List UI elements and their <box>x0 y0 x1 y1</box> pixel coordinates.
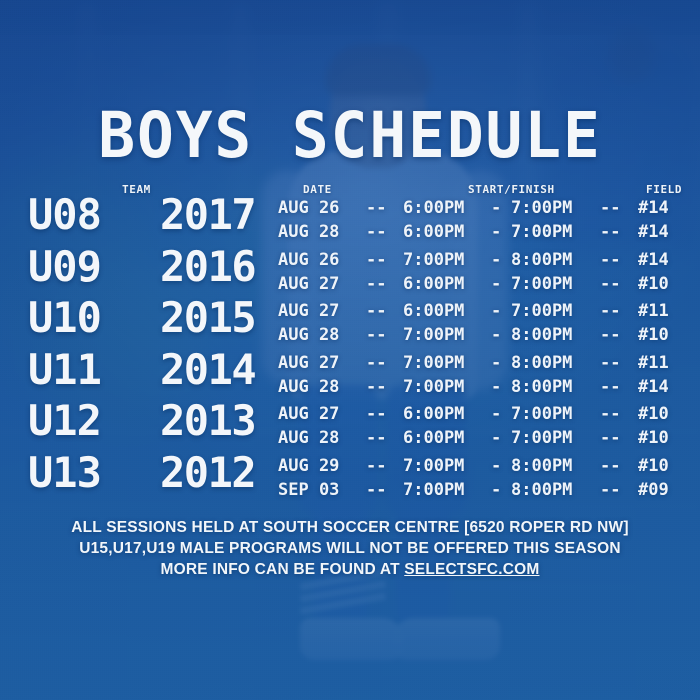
team-label: U13 <box>28 452 101 494</box>
session-entry: SEP 03 -- 7:00PM - 8:00PM -- #09 <box>278 478 698 502</box>
separator-dash: -- <box>600 478 620 502</box>
time-range-dash: - <box>491 248 501 272</box>
separator-dash: -- <box>600 272 620 296</box>
team-label: U11 <box>28 349 101 391</box>
time-range-dash: - <box>491 299 501 323</box>
session-date: SEP 03 <box>278 478 339 502</box>
session-finish: 8:00PM <box>511 248 572 272</box>
birth-year-label: 2016 <box>160 246 255 288</box>
session-start: 6:00PM <box>403 402 464 426</box>
team-label: U09 <box>28 246 101 288</box>
session-field: #11 <box>638 351 669 375</box>
session-finish: 7:00PM <box>511 220 572 244</box>
poster-content: BOYS SCHEDULE TEAM DATE START/FINISH FIE… <box>0 0 700 700</box>
time-range-dash: - <box>491 454 501 478</box>
birth-year-label: 2014 <box>160 349 255 391</box>
session-finish: 7:00PM <box>511 426 572 450</box>
session-field: #10 <box>638 426 669 450</box>
birth-year-label: 2017 <box>160 194 255 236</box>
session-date: AUG 28 <box>278 426 339 450</box>
separator-dash: -- <box>600 426 620 450</box>
footer-line-more-info: MORE INFO CAN BE FOUND AT SELECTSFC.COM <box>0 559 700 580</box>
session-date: AUG 27 <box>278 272 339 296</box>
session-entry: AUG 28 -- 7:00PM - 8:00PM -- #10 <box>278 323 698 347</box>
separator-dash: -- <box>366 351 386 375</box>
separator-dash: -- <box>600 375 620 399</box>
boys-schedule-poster: BOYS SCHEDULE TEAM DATE START/FINISH FIE… <box>0 0 700 700</box>
session-date: AUG 26 <box>278 196 339 220</box>
separator-dash: -- <box>366 375 386 399</box>
birth-year-label: 2015 <box>160 297 255 339</box>
column-header-start-finish: START/FINISH <box>468 183 555 196</box>
session-finish: 8:00PM <box>511 375 572 399</box>
separator-dash: -- <box>600 196 620 220</box>
birth-year-label: 2012 <box>160 452 255 494</box>
session-field: #14 <box>638 220 669 244</box>
session-finish: 7:00PM <box>511 196 572 220</box>
session-list: AUG 29 -- 7:00PM - 8:00PM -- #10 SEP 03 … <box>278 454 698 502</box>
session-start: 7:00PM <box>403 478 464 502</box>
separator-dash: -- <box>366 272 386 296</box>
separator-dash: -- <box>366 426 386 450</box>
session-field: #10 <box>638 323 669 347</box>
session-start: 7:00PM <box>403 454 464 478</box>
footer-line-programs: U15,U17,U19 MALE PROGRAMS WILL NOT BE OF… <box>0 538 700 559</box>
time-range-dash: - <box>491 351 501 375</box>
separator-dash: -- <box>600 248 620 272</box>
session-finish: 7:00PM <box>511 299 572 323</box>
column-header-team: TEAM <box>122 183 151 196</box>
separator-dash: -- <box>366 299 386 323</box>
session-field: #14 <box>638 375 669 399</box>
session-start: 7:00PM <box>403 375 464 399</box>
column-header-date: DATE <box>303 183 332 196</box>
session-field: #14 <box>638 248 669 272</box>
separator-dash: -- <box>600 351 620 375</box>
footer-more-info-prefix: MORE INFO CAN BE FOUND AT <box>161 561 405 578</box>
session-field: #10 <box>638 272 669 296</box>
separator-dash: -- <box>600 402 620 426</box>
session-list: AUG 27 -- 6:00PM - 7:00PM -- #11 AUG 28 … <box>278 299 698 347</box>
session-date: AUG 26 <box>278 248 339 272</box>
column-header-field: FIELD <box>646 183 682 196</box>
table-row: U13 2012 AUG 29 -- 7:00PM - 8:00PM -- #1… <box>0 456 700 508</box>
session-date: AUG 27 <box>278 351 339 375</box>
session-date: AUG 27 <box>278 299 339 323</box>
birth-year-label: 2013 <box>160 400 255 442</box>
session-start: 6:00PM <box>403 272 464 296</box>
separator-dash: -- <box>366 454 386 478</box>
session-start: 6:00PM <box>403 220 464 244</box>
time-range-dash: - <box>491 402 501 426</box>
table-row: U10 2015 AUG 27 -- 6:00PM - 7:00PM -- #1… <box>0 301 700 353</box>
session-field: #10 <box>638 454 669 478</box>
session-finish: 8:00PM <box>511 351 572 375</box>
table-row: U12 2013 AUG 27 -- 6:00PM - 7:00PM -- #1… <box>0 404 700 456</box>
session-date: AUG 29 <box>278 454 339 478</box>
session-list: AUG 27 -- 7:00PM - 8:00PM -- #11 AUG 28 … <box>278 351 698 399</box>
session-start: 7:00PM <box>403 351 464 375</box>
time-range-dash: - <box>491 375 501 399</box>
session-list: AUG 26 -- 6:00PM - 7:00PM -- #14 AUG 28 … <box>278 196 698 244</box>
session-list: AUG 27 -- 6:00PM - 7:00PM -- #10 AUG 28 … <box>278 402 698 450</box>
website-link[interactable]: SELECTSFC.COM <box>404 561 539 578</box>
session-finish: 8:00PM <box>511 454 572 478</box>
session-finish: 8:00PM <box>511 478 572 502</box>
session-field: #10 <box>638 402 669 426</box>
session-date: AUG 27 <box>278 402 339 426</box>
session-field: #11 <box>638 299 669 323</box>
session-entry: AUG 26 -- 7:00PM - 8:00PM -- #14 <box>278 248 698 272</box>
session-entry: AUG 27 -- 6:00PM - 7:00PM -- #10 <box>278 272 698 296</box>
session-start: 6:00PM <box>403 299 464 323</box>
time-range-dash: - <box>491 426 501 450</box>
session-finish: 7:00PM <box>511 272 572 296</box>
time-range-dash: - <box>491 220 501 244</box>
table-row: U11 2014 AUG 27 -- 7:00PM - 8:00PM -- #1… <box>0 353 700 405</box>
team-label: U12 <box>28 400 101 442</box>
session-entry: AUG 29 -- 7:00PM - 8:00PM -- #10 <box>278 454 698 478</box>
schedule-table: U08 2017 AUG 26 -- 6:00PM - 7:00PM -- #1… <box>0 198 700 507</box>
page-title: BOYS SCHEDULE <box>11 104 690 167</box>
session-entry: AUG 27 -- 7:00PM - 8:00PM -- #11 <box>278 351 698 375</box>
session-entry: AUG 26 -- 6:00PM - 7:00PM -- #14 <box>278 196 698 220</box>
session-finish: 8:00PM <box>511 323 572 347</box>
session-entry: AUG 28 -- 7:00PM - 8:00PM -- #14 <box>278 375 698 399</box>
session-entry: AUG 27 -- 6:00PM - 7:00PM -- #11 <box>278 299 698 323</box>
session-start: 7:00PM <box>403 323 464 347</box>
separator-dash: -- <box>366 323 386 347</box>
session-list: AUG 26 -- 7:00PM - 8:00PM -- #14 AUG 27 … <box>278 248 698 296</box>
session-date: AUG 28 <box>278 220 339 244</box>
separator-dash: -- <box>366 478 386 502</box>
session-entry: AUG 27 -- 6:00PM - 7:00PM -- #10 <box>278 402 698 426</box>
time-range-dash: - <box>491 323 501 347</box>
session-entry: AUG 28 -- 6:00PM - 7:00PM -- #14 <box>278 220 698 244</box>
session-field: #09 <box>638 478 669 502</box>
session-field: #14 <box>638 196 669 220</box>
session-start: 7:00PM <box>403 248 464 272</box>
team-label: U08 <box>28 194 101 236</box>
team-label: U10 <box>28 297 101 339</box>
separator-dash: -- <box>366 196 386 220</box>
session-finish: 7:00PM <box>511 402 572 426</box>
separator-dash: -- <box>600 323 620 347</box>
table-row: U08 2017 AUG 26 -- 6:00PM - 7:00PM -- #1… <box>0 198 700 250</box>
separator-dash: -- <box>366 402 386 426</box>
separator-dash: -- <box>600 299 620 323</box>
session-date: AUG 28 <box>278 323 339 347</box>
session-entry: AUG 28 -- 6:00PM - 7:00PM -- #10 <box>278 426 698 450</box>
footer-line-location: ALL SESSIONS HELD AT SOUTH SOCCER CENTRE… <box>0 517 700 538</box>
time-range-dash: - <box>491 272 501 296</box>
separator-dash: -- <box>600 454 620 478</box>
time-range-dash: - <box>491 478 501 502</box>
separator-dash: -- <box>366 220 386 244</box>
table-row: U09 2016 AUG 26 -- 7:00PM - 8:00PM -- #1… <box>0 250 700 302</box>
footer-notes: ALL SESSIONS HELD AT SOUTH SOCCER CENTRE… <box>0 517 700 580</box>
session-start: 6:00PM <box>403 196 464 220</box>
session-start: 6:00PM <box>403 426 464 450</box>
session-date: AUG 28 <box>278 375 339 399</box>
separator-dash: -- <box>600 220 620 244</box>
time-range-dash: - <box>491 196 501 220</box>
separator-dash: -- <box>366 248 386 272</box>
